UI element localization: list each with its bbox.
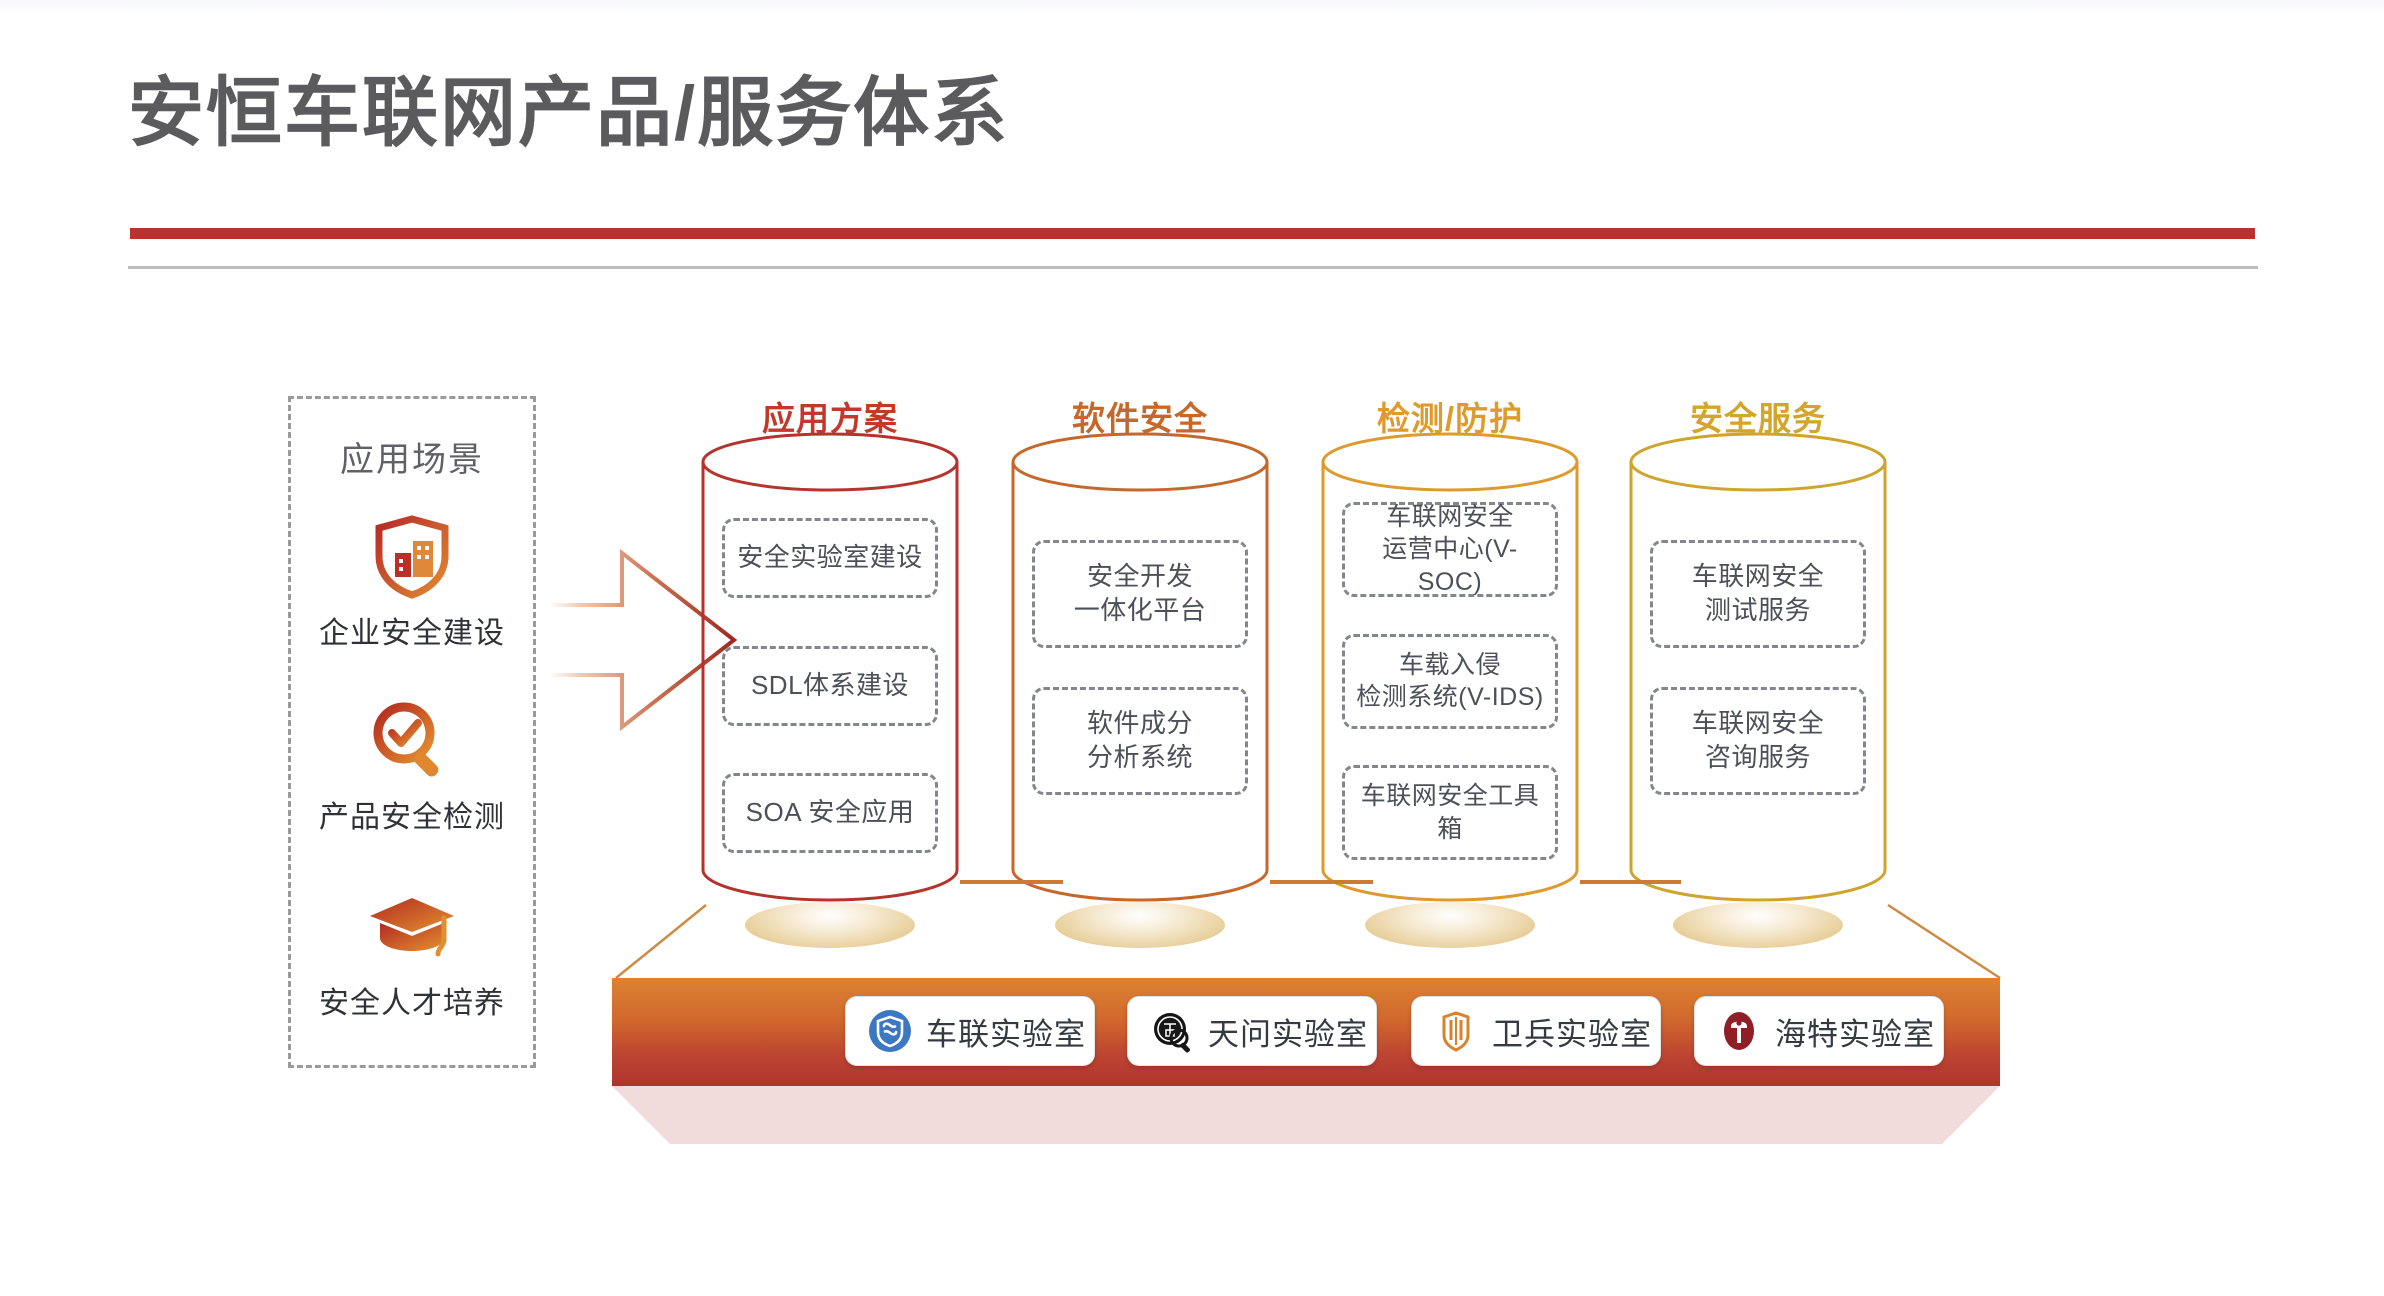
cylinder-base-shadow [1673, 902, 1843, 948]
scenario-item-label: 产品安全检测 [288, 792, 536, 836]
top-edge-band [0, 0, 2384, 14]
lab-chip-label: 车联实验室 [926, 1009, 1086, 1054]
pillar-item[interactable]: 车联网安全工具箱 [1342, 765, 1558, 860]
pillar-item[interactable]: 软件成分 分析系统 [1032, 687, 1248, 795]
connector-1-2 [960, 880, 1063, 884]
pillar-application-solutions[interactable]: 应用方案 安全实验室建设 SDL体系建设 SOA 安全应用 [700, 430, 960, 915]
header-red-rule [130, 228, 2255, 239]
pillar-item[interactable]: SDL体系建设 [722, 646, 938, 726]
tianwen-seal-magnifier-icon [1150, 1009, 1194, 1053]
cylinder-base-shadow [1365, 902, 1535, 948]
lab-chip-label: 卫兵实验室 [1492, 1009, 1652, 1054]
shield-building-icon [288, 516, 536, 598]
scenario-item-enterprise-security[interactable]: 企业安全建设 [288, 516, 536, 652]
lab-chip-weibing[interactable]: 卫兵实验室 [1411, 996, 1661, 1066]
connector-2-3 [1270, 880, 1373, 884]
scenario-item-product-testing[interactable]: 产品安全检测 [288, 700, 536, 836]
pillar-title: 应用方案 [680, 392, 980, 440]
pillar-detection-protection[interactable]: 检测/防护 车联网安全 运营中心(V-SOC) 车载入侵 检测系统(V-IDS)… [1320, 430, 1580, 915]
pillar-title: 软件安全 [990, 392, 1290, 440]
pillar-item[interactable]: 安全开发 一体化平台 [1032, 540, 1248, 648]
lab-chip-haite[interactable]: 海特实验室 [1694, 996, 1944, 1066]
pillar-software-security[interactable]: 软件安全 安全开发 一体化平台 软件成分 分析系统 [1010, 430, 1270, 915]
pillar-item[interactable]: 车载入侵 检测系统(V-IDS) [1342, 634, 1558, 729]
lab-chip-label: 海特实验室 [1775, 1009, 1935, 1054]
slide-canvas: 安恒车联网产品/服务体系 应用场景 企 [0, 0, 2384, 1296]
magnifier-check-icon [288, 700, 536, 782]
pillar-items: 车联网安全 测试服务 车联网安全 咨询服务 [1650, 540, 1866, 795]
lab-chip-tianwen[interactable]: 天问实验室 [1127, 996, 1377, 1066]
connector-3-4 [1580, 880, 1681, 884]
pillar-item[interactable]: 安全实验室建设 [722, 518, 938, 598]
car-network-shield-icon [868, 1009, 912, 1053]
page-title: 安恒车联网产品/服务体系 [128, 72, 1009, 156]
pillar-item[interactable]: 车联网安全 测试服务 [1650, 540, 1866, 648]
scenario-panel-title: 应用场景 [288, 432, 536, 481]
header-gray-rule [128, 266, 2258, 269]
pillar-items: 安全实验室建设 SDL体系建设 SOA 安全应用 [722, 518, 938, 853]
pillar-item[interactable]: 车联网安全 咨询服务 [1650, 687, 1866, 795]
pillar-security-services[interactable]: 安全服务 车联网安全 测试服务 车联网安全 咨询服务 [1628, 430, 1888, 915]
guard-pillar-icon [1434, 1009, 1478, 1053]
pillar-items: 安全开发 一体化平台 软件成分 分析系统 [1032, 540, 1248, 795]
lab-chip-label: 天问实验室 [1208, 1009, 1368, 1054]
lab-chip-chelian[interactable]: 车联实验室 [845, 996, 1095, 1066]
cylinder-base-shadow [1055, 902, 1225, 948]
scenario-item-label: 企业安全建设 [288, 608, 536, 652]
pillar-title: 安全服务 [1608, 392, 1908, 440]
haite-helmet-icon [1717, 1009, 1761, 1053]
pillar-item[interactable]: SOA 安全应用 [722, 773, 938, 853]
pillar-items: 车联网安全 运营中心(V-SOC) 车载入侵 检测系统(V-IDS) 车联网安全… [1342, 502, 1558, 860]
pillar-item[interactable]: 车联网安全 运营中心(V-SOC) [1342, 502, 1558, 597]
cylinder-base-shadow [745, 902, 915, 948]
base-floor-shadow [612, 1086, 2000, 1148]
pillar-title: 检测/防护 [1300, 392, 1600, 440]
